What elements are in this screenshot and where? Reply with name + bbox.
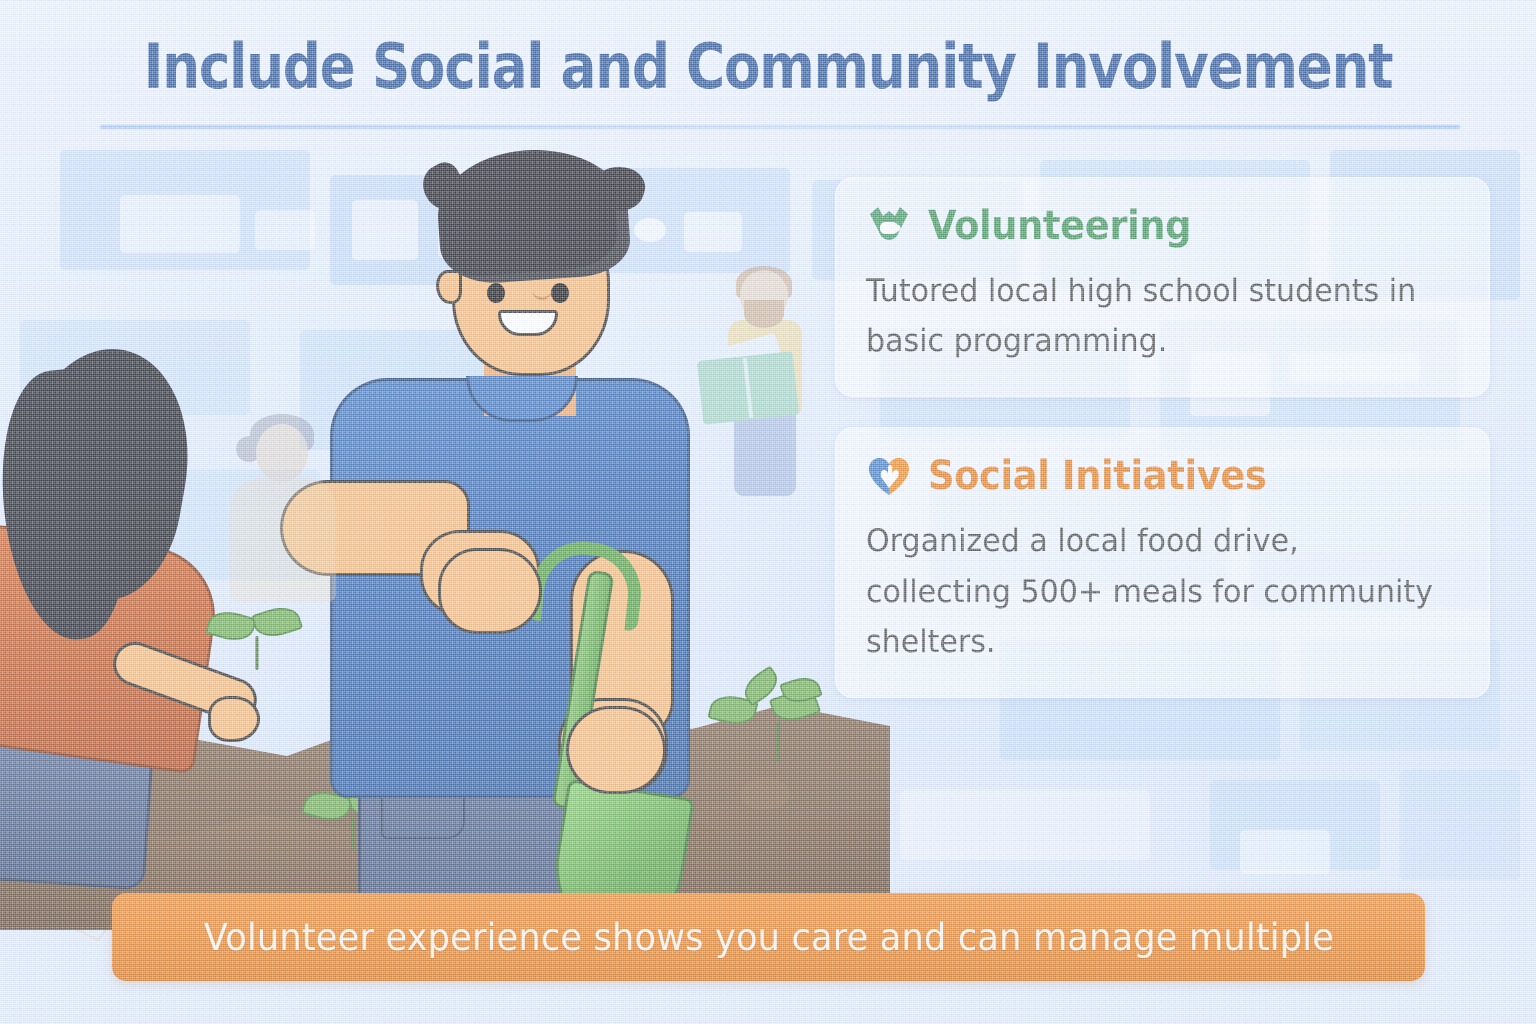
page-title: Include Social and Community Involvement — [108, 34, 1429, 99]
infographic-poster: Include Social and Community Involvement — [0, 0, 1536, 1024]
background-seated-person — [218, 410, 348, 620]
title-divider — [100, 125, 1460, 129]
card-volunteering[interactable]: Volunteering Tutored local high school s… — [835, 177, 1490, 397]
detail-cards: Volunteering Tutored local high school s… — [835, 177, 1490, 728]
card-header: Social Initiatives — [866, 454, 1459, 498]
heart-in-hands-icon — [866, 454, 912, 498]
card-social-initiatives[interactable]: Social Initiatives Organized a local foo… — [835, 427, 1490, 698]
helping-hands-icon — [866, 204, 912, 248]
card-title: Social Initiatives — [928, 456, 1266, 496]
card-header: Volunteering — [866, 204, 1459, 248]
banner-text: Volunteer experience shows you care and … — [203, 916, 1333, 959]
page-title-wrapper: Include Social and Community Involvement — [0, 34, 1536, 99]
card-body-text: Organized a local food drive, collecting… — [866, 516, 1441, 667]
background-person-reading-book — [706, 270, 826, 530]
card-title: Volunteering — [928, 206, 1191, 246]
community-garden-illustration — [0, 140, 880, 930]
card-body-text: Tutored local high school students in ba… — [866, 266, 1441, 366]
seedling — [730, 692, 826, 762]
bottom-callout-banner: Volunteer experience shows you care and … — [112, 893, 1425, 981]
